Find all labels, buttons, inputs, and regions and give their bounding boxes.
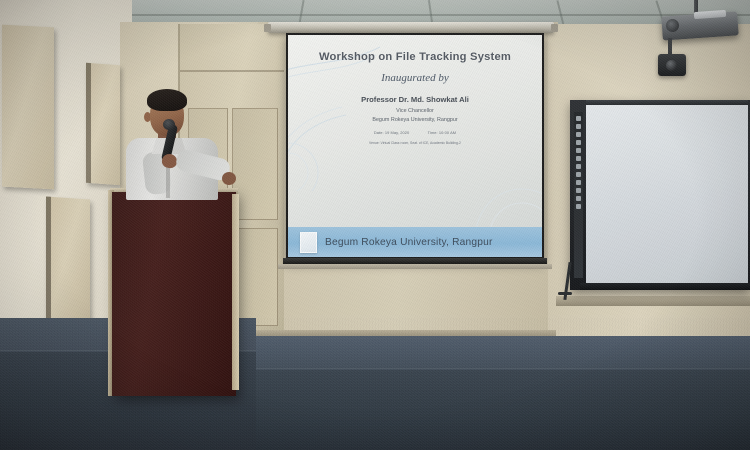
slide-footer-banner: Begum Rokeya University, Rangpur (288, 227, 542, 257)
presentation-slide: Workshop on File Tracking System Inaugur… (288, 35, 542, 257)
whiteboard-button[interactable] (576, 132, 581, 137)
wall-skirting-right (556, 296, 750, 306)
whiteboard-button[interactable] (576, 164, 581, 169)
man-speaking-at-podium (118, 88, 236, 200)
whiteboard-button[interactable] (576, 124, 581, 129)
interactive-whiteboard[interactable] (570, 100, 750, 290)
whiteboard-bottom-tray (580, 283, 750, 290)
wooden-podium (112, 192, 236, 396)
presenter-right-hand (222, 172, 236, 185)
podium-right-edge (232, 194, 239, 390)
whiteboard-button[interactable] (576, 204, 581, 209)
screen-surface: Workshop on File Tracking System Inaugur… (288, 35, 542, 257)
whiteboard-button-rail[interactable] (574, 112, 583, 278)
presenter-hair (147, 89, 187, 111)
door-rail (180, 70, 284, 72)
stage-step-edge (256, 368, 750, 369)
slide-speaker-role: Vice Chancellor (288, 108, 542, 114)
slide-meta-line: Date: 19 May, 2020 Time: 10:00 AM (288, 130, 542, 135)
wall-panel-upper-left (2, 25, 54, 190)
whiteboard-button[interactable] (576, 196, 581, 201)
screen-ledge (278, 264, 552, 269)
slide-speaker-name: Professor Dr. Md. Showkat Ali (288, 95, 542, 104)
slide-date: Date: 19 May, 2020 (374, 130, 409, 135)
screen-roller-cap (264, 24, 271, 32)
projection-screen-roller[interactable] (268, 22, 554, 33)
wall-panel-lower (46, 196, 90, 331)
photo-scene: Workshop on File Tracking System Inaugur… (0, 0, 750, 450)
whiteboard-surface[interactable] (586, 105, 748, 283)
slide-title: Workshop on File Tracking System (288, 51, 542, 63)
wall-panel-upper-right (86, 63, 120, 185)
screen-roller-cap (551, 24, 558, 32)
whiteboard-cable (558, 292, 572, 295)
whiteboard-button[interactable] (576, 140, 581, 145)
swirl-decoration-icon (288, 41, 392, 191)
slide-inaugurated-by: Inaugurated by (288, 72, 542, 84)
slide-body: Workshop on File Tracking System Inaugur… (288, 35, 542, 227)
whiteboard-button[interactable] (576, 188, 581, 193)
microphone-head-icon (163, 119, 175, 130)
whiteboard-button[interactable] (576, 148, 581, 153)
university-logo-icon (300, 232, 317, 253)
camera-lens-icon (666, 60, 677, 71)
whiteboard-button[interactable] (576, 156, 581, 161)
whiteboard-button[interactable] (576, 180, 581, 185)
slide-time: Time: 10:00 AM (428, 130, 457, 135)
slide-venue: Venue: Virtual Class room, Seat. of ICE,… (288, 141, 542, 145)
slide-speaker-organization: Begum Rokeya University, Rangpur (288, 117, 542, 123)
pull-down-projection-screen: Workshop on File Tracking System Inaugur… (286, 33, 544, 261)
swirl-decoration-icon (442, 155, 542, 227)
whiteboard-button[interactable] (576, 116, 581, 121)
slide-banner-text: Begum Rokeya University, Rangpur (325, 237, 493, 248)
whiteboard-button[interactable] (576, 172, 581, 177)
